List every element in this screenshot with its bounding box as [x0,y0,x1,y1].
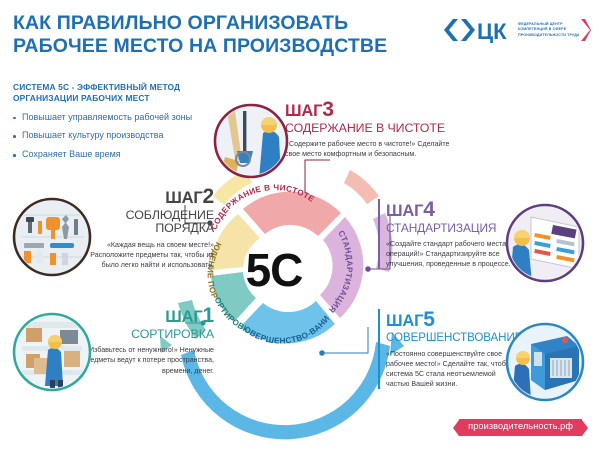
machine-photo [505,322,585,402]
step-2-name: СОБЛЮДЕНИЕ ПОРЯДКА [76,209,214,236]
connector-step5 [322,327,368,353]
step-2-body: «Каждая вещь на своем месте!» Расположит… [76,240,214,270]
connector-dot-step4 [365,266,371,272]
step-block-4: ШАГ4 СТАНДАРТИЗАЦИЯ «Создайте стандарт р… [378,199,514,269]
standard-board-photo [505,203,585,283]
outer-arc-clean [344,170,379,204]
step-1-kicker: ШАГ1 [62,305,214,326]
site-badge[interactable]: производительность.рф [453,419,588,436]
wheel-center-label: 5С [246,244,303,296]
cleaning-tools-photo [213,103,289,179]
tool-board-photo [12,197,92,277]
step-4-kicker: ШАГ4 [386,199,514,220]
step-4-body: «Создайте стандарт рабочего места, опера… [386,239,514,269]
badge-label: производительность.рф [459,419,582,435]
step-3-name: СОДЕРЖАНИЕ В ЧИСТОТЕ [285,122,460,135]
step-3-kicker-word: ШАГ [285,102,322,120]
connector-step3 [305,160,330,196]
step-5-kicker: ШАГ5 [386,309,519,330]
step-block-2: ШАГ2 СОБЛЮДЕНИЕ ПОРЯДКА «Каждая вещь на … [76,186,214,270]
step-5-name: СОВЕРШЕНСТВОВАНИЕ [386,332,519,345]
step-3-kicker: ШАГ3 [285,99,460,120]
step-1-number: 1 [203,304,214,327]
infographic-canvas: КАК ПРАВИЛЬНО ОРГАНИЗОВАТЬ РАБОЧЕЕ МЕСТО… [0,0,600,450]
step-2-number: 2 [203,185,214,208]
step-3-number: 3 [322,98,333,121]
step-2-kicker-word: ШАГ [165,189,202,207]
step-1-kicker-word: ШАГ [165,308,202,326]
step-4-number: 4 [423,198,434,221]
step-4-kicker-word: ШАГ [386,202,423,220]
wheel-segment-clean [243,192,341,236]
step-5-number: 5 [423,308,434,331]
worker-boxes-photo [12,312,92,392]
step-5-kicker-word: ШАГ [386,312,423,330]
connector-dot-step5 [319,350,325,356]
step-block-3: ШАГ3 СОДЕРЖАНИЕ В ЧИСТОТЕ «Содержите раб… [285,99,460,160]
step-5-body: «Постоянно совершенствуйте свое рабочее … [386,349,519,389]
badge-right-chevron-icon [582,420,588,436]
step-4-name: СТАНДАРТИЗАЦИЯ [386,222,514,235]
step-3-body: «Содержите рабочее место в чистоте!» Сде… [285,139,460,159]
step-block-5: ШАГ5 СОВЕРШЕНСТВОВАНИЕ «Постоянно соверш… [378,309,519,389]
step-2-kicker: ШАГ2 [76,186,214,207]
